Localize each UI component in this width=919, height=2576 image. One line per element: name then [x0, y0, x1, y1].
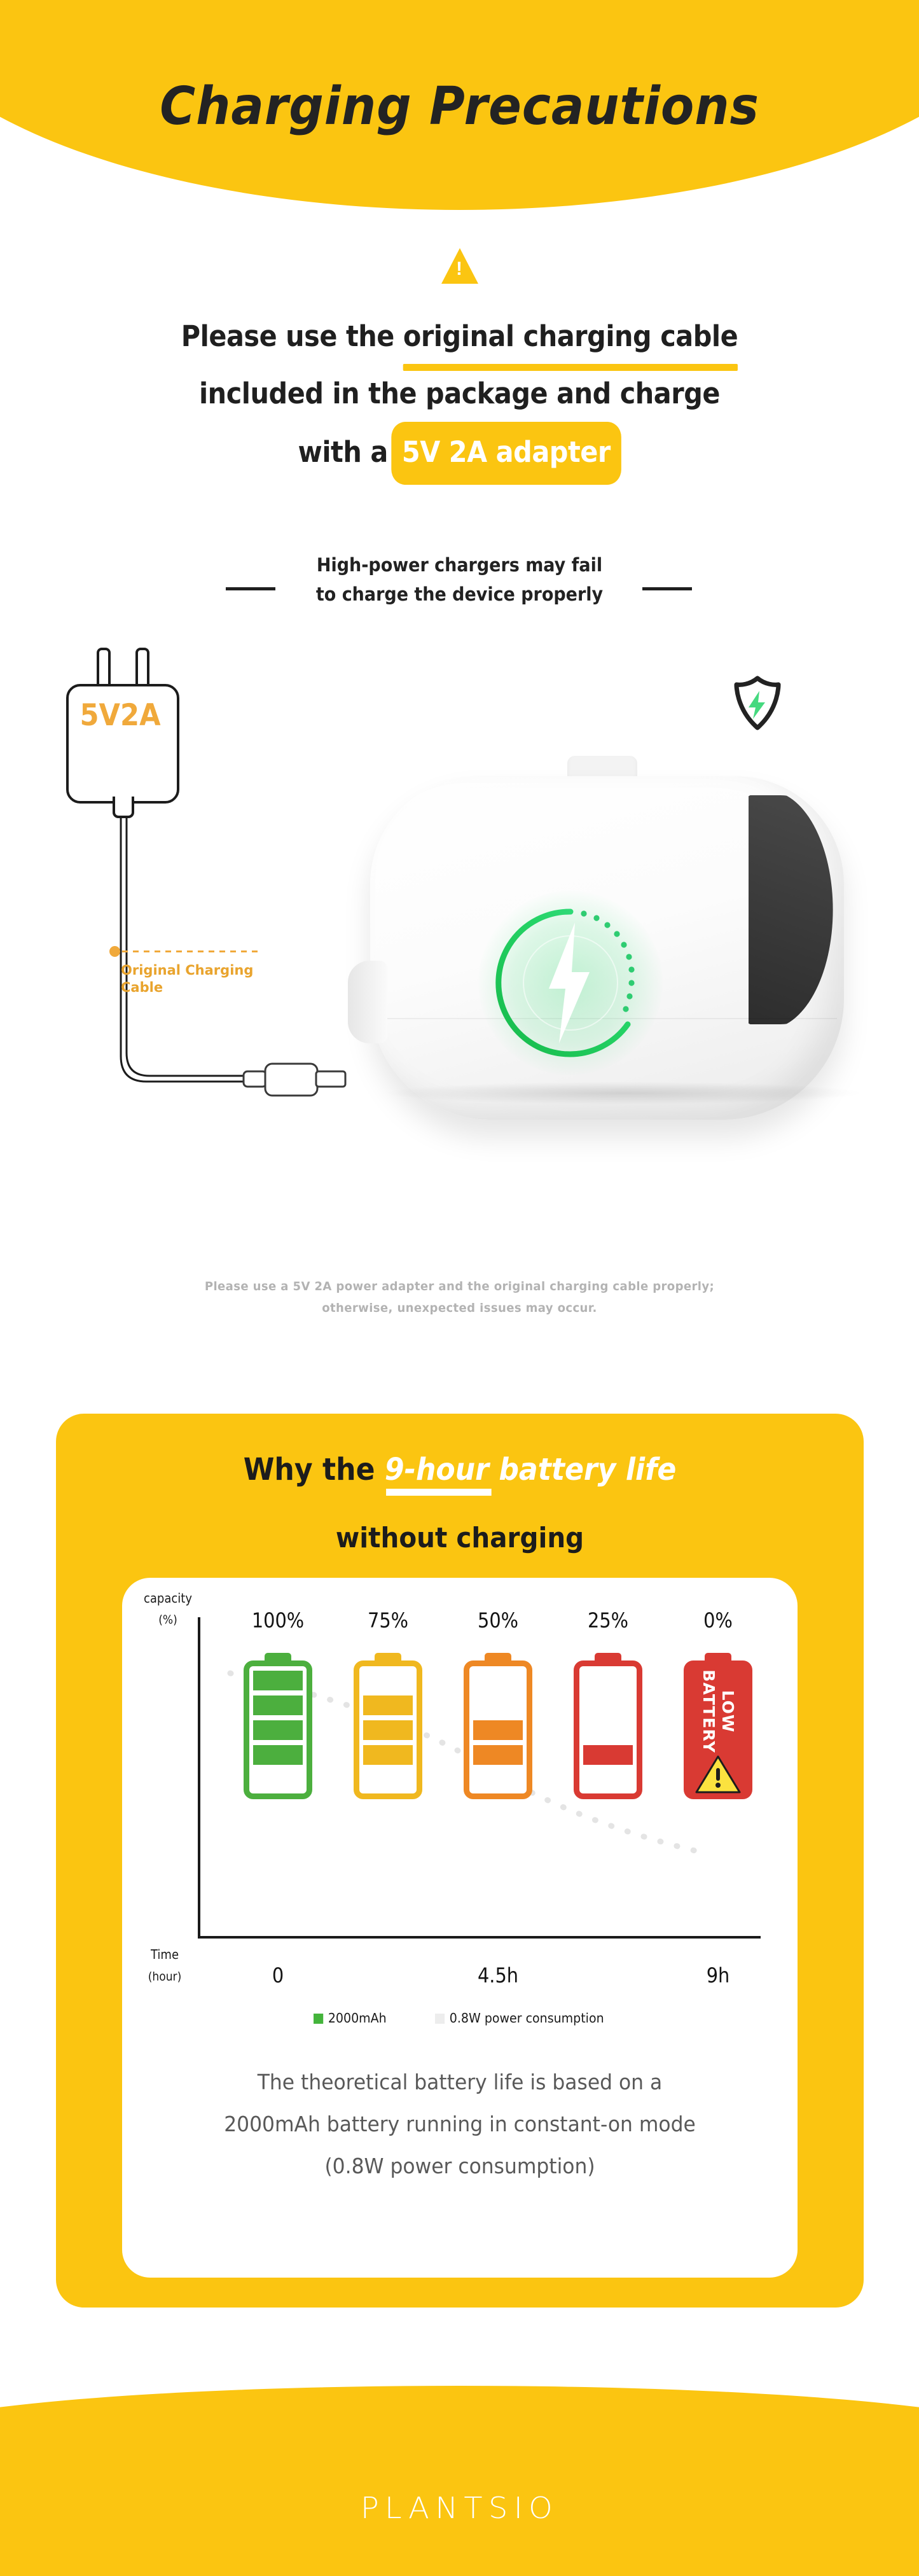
warning-line-3-prefix: with a — [298, 435, 388, 469]
battery-life-card: Why the 9-hour battery life without char… — [56, 1414, 864, 2308]
callout-dot — [109, 946, 120, 957]
battery-card-title: Why the 9-hour battery life — [88, 1452, 831, 1487]
battery-bar — [253, 1671, 303, 1690]
legend-swatch-gray — [435, 2014, 445, 2024]
adapter-cable-neck — [113, 797, 134, 818]
sub-warning-text: High-power chargers may fail to charge t… — [0, 550, 919, 609]
legend-label-capacity: 2000mAh — [328, 2010, 386, 2026]
chart-capacity-tick-2: 50% — [450, 1608, 547, 1633]
chart-legend: 2000mAh 0.8W power consumption — [122, 2010, 798, 2026]
disclaimer-line-1: Please use a 5V 2A power adapter and the… — [23, 1276, 896, 1297]
battery-bar — [473, 1745, 523, 1765]
chart-capacity-tick-4: 0% — [670, 1608, 767, 1633]
battery-card-caption: The theoretical battery life is based on… — [139, 2061, 781, 2187]
product-disclaimer: Please use a 5V 2A power adapter and the… — [23, 1276, 896, 1319]
page-header: Charging Precautions — [0, 0, 919, 210]
battery-card-subtitle: without charging — [88, 1522, 831, 1554]
callout-label-line-2: Cable — [121, 979, 286, 996]
warning-exclamation-glyph: ! — [455, 261, 463, 277]
low-battery-label: LOW BATTERY — [699, 1654, 737, 1769]
brand-logo: PLANTSIO — [0, 2491, 919, 2525]
warning-line-1: Please use the original charging cable — [37, 309, 882, 366]
caption-line-2: 2000mAh battery running in constant-on m… — [139, 2103, 781, 2145]
warning-highlight-cable: original charging cable — [403, 309, 738, 366]
battery-bar — [363, 1720, 413, 1740]
battery-icon-25 — [574, 1653, 642, 1799]
battery-card-title-suffix: battery life — [489, 1452, 676, 1487]
battery-bar — [363, 1745, 413, 1765]
low-battery-warning-icon — [695, 1755, 741, 1794]
caption-line-3: (0.8W power consumption) — [139, 2145, 781, 2187]
legend-item-power: 0.8W power consumption — [435, 2010, 604, 2026]
battery-icon-100 — [244, 1653, 312, 1799]
warning-line-1-prefix: Please use the — [181, 319, 403, 353]
disclaimer-line-2: otherwise, unexpected issues may occur. — [23, 1297, 896, 1319]
battery-icon-0-low: LOW BATTERY — [684, 1653, 752, 1799]
sub-warning-line-1: High-power chargers may fail — [32, 550, 887, 580]
battery-icon-50 — [464, 1653, 532, 1799]
adapter-rating-label: 5V2A — [71, 698, 170, 733]
low-battery-word-2: BATTERY — [700, 1669, 718, 1753]
battery-card-hours: 9-hour — [385, 1452, 489, 1487]
chart-capacity-tick-3: 25% — [560, 1608, 657, 1633]
chart-capacity-tick-0: 100% — [230, 1608, 327, 1633]
device-side-knob — [348, 961, 387, 1043]
low-battery-word-1: LOW — [719, 1690, 737, 1733]
adapter-badge: 5V 2A adapter — [391, 422, 621, 485]
battery-shell — [574, 1660, 642, 1799]
chart-time-tick-2: 9h — [670, 1963, 767, 1988]
battery-chart-card: capacity (%) Time (hour) 100% 75% 50% 25… — [122, 1578, 798, 2278]
page-footer: PLANTSIO — [0, 2379, 919, 2576]
chart-capacity-tick-1: 75% — [340, 1608, 437, 1633]
legend-label-power: 0.8W power consumption — [450, 2010, 604, 2026]
chart-time-tick-0: 0 — [230, 1963, 327, 1988]
caption-line-1: The theoretical battery life is based on… — [139, 2061, 781, 2103]
shield-bolt-icon — [733, 676, 782, 730]
battery-bar — [253, 1720, 303, 1740]
battery-bar — [363, 1695, 413, 1715]
battery-bar — [253, 1745, 303, 1765]
legend-item-capacity: 2000mAh — [314, 2010, 387, 2026]
callout-label: Original Charging Cable — [121, 962, 286, 996]
chart-time-tick-1: 4.5h — [450, 1963, 547, 1988]
sub-warning-line-2: to charge the device properly — [32, 580, 887, 609]
legend-swatch-green — [314, 2014, 323, 2024]
lightning-bolt-icon — [544, 922, 595, 1043]
product-scene: 5V2A Original Charging Cable — [0, 636, 919, 1272]
page-title: Charging Precautions — [32, 76, 887, 137]
warning-line-3: with a5V 2A adapter — [37, 422, 882, 485]
warning-line-2: included in the package and charge — [37, 366, 882, 422]
battery-bar — [583, 1745, 633, 1765]
main-warning-text: Please use the original charging cable i… — [0, 309, 919, 485]
device-drop-shadow — [382, 1082, 865, 1104]
callout-label-line-1: Original Charging — [121, 962, 286, 979]
battery-bar — [253, 1695, 303, 1715]
battery-icon-75 — [354, 1653, 422, 1799]
footer-background-shape — [0, 2386, 919, 2576]
callout-dashed-line — [122, 950, 259, 952]
battery-bar — [473, 1720, 523, 1740]
battery-card-title-prefix: Why the — [244, 1452, 385, 1487]
